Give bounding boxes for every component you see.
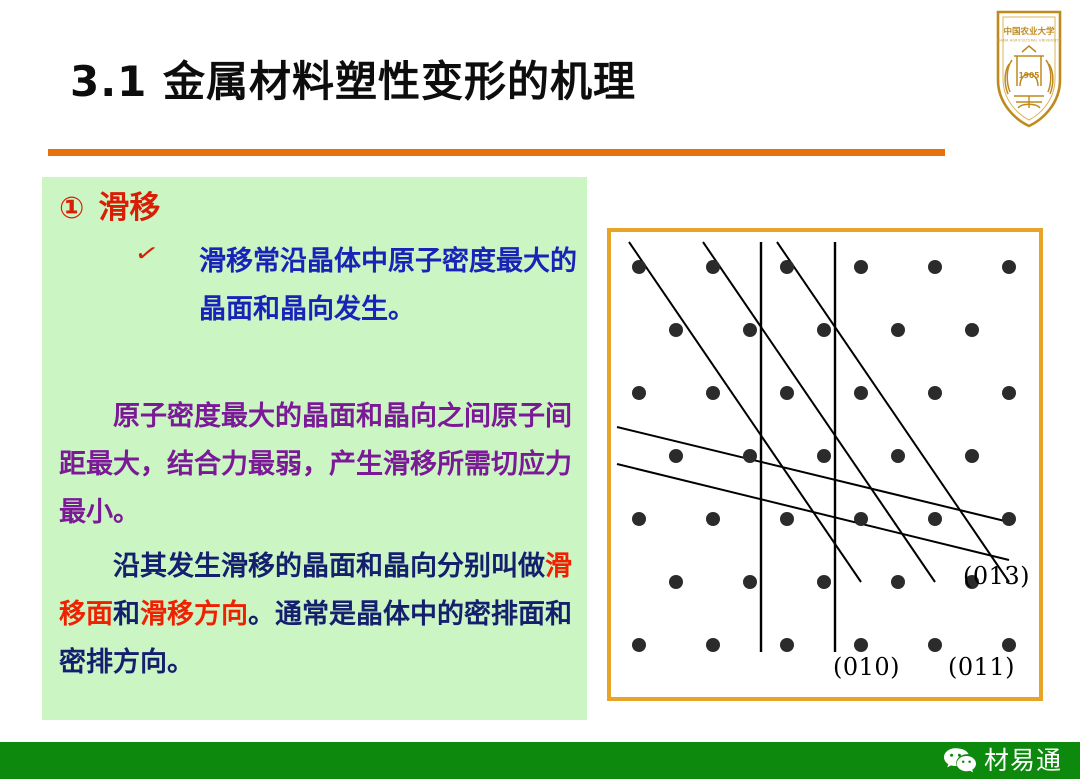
lattice-atom xyxy=(1002,512,1016,526)
lattice-atom xyxy=(632,512,646,526)
lattice-atom xyxy=(780,512,794,526)
lattice-atom xyxy=(706,512,720,526)
lattice-atom xyxy=(706,260,720,274)
wechat-icon xyxy=(943,747,977,775)
lattice-atom xyxy=(854,512,868,526)
content-panel: ①滑移 ✓ 滑移常沿晶体中原子密度最大的晶面和晶向发生。 原子密度最大的晶面和晶… xyxy=(42,177,587,720)
plane-line-011 xyxy=(629,242,861,582)
lattice-atom xyxy=(780,260,794,274)
lattice-atom xyxy=(1002,386,1016,400)
lattice-atom xyxy=(632,260,646,274)
lattice-atom xyxy=(891,323,905,337)
logo-year: 1905 xyxy=(1019,71,1040,80)
lattice-atom xyxy=(743,449,757,463)
lattice-atom xyxy=(965,323,979,337)
check-item-text: 滑移常沿晶体中原子密度最大的晶面和晶向发生。 xyxy=(199,237,589,333)
plane-label-010: (010) xyxy=(833,653,900,681)
check-icon: ✓ xyxy=(132,240,160,268)
lattice-atom xyxy=(743,575,757,589)
plane-label-011: (011) xyxy=(948,653,1015,681)
lattice-atom xyxy=(1002,260,1016,274)
paragraph-blue-middle: 和 xyxy=(113,599,140,629)
logo-name-en: CHINA AGRICULTURAL UNIVERSITY xyxy=(997,39,1062,43)
paragraph-blue: 沿其发生滑移的晶面和晶向分别叫做滑移面和滑移方向。通常是晶体中的密排面和密排方向… xyxy=(59,542,579,686)
lattice-atom xyxy=(780,638,794,652)
section-heading: ①滑移 xyxy=(59,189,160,228)
lattice-svg: (013)(010)(011) xyxy=(611,232,1039,697)
lattice-atom xyxy=(817,575,831,589)
lattice-atom xyxy=(854,260,868,274)
section-marker: ① xyxy=(59,191,84,226)
lattice-atom xyxy=(965,449,979,463)
lattice-figure: (013)(010)(011) xyxy=(607,228,1043,701)
title-divider xyxy=(48,149,945,156)
plane-line-013 xyxy=(617,427,1009,522)
plane-label-013: (013) xyxy=(963,562,1030,590)
lattice-atom xyxy=(1002,638,1016,652)
lattice-atom xyxy=(928,386,942,400)
university-logo: 中国农业大学 CHINA AGRICULTURAL UNIVERSITY 190… xyxy=(992,8,1066,130)
lattice-atom xyxy=(928,260,942,274)
lattice-atom xyxy=(706,638,720,652)
section-heading-text: 滑移 xyxy=(98,190,160,225)
lattice-atom xyxy=(817,449,831,463)
lattice-atom xyxy=(669,323,683,337)
lattice-atom xyxy=(743,323,757,337)
plane-line-011 xyxy=(703,242,935,582)
page-title: 3.1 金属材料塑性变形的机理 xyxy=(70,56,636,108)
lattice-atom xyxy=(891,575,905,589)
footer-bar xyxy=(0,742,1080,779)
lattice-atom xyxy=(928,512,942,526)
paragraph-blue-highlight-2: 滑移方向 xyxy=(140,599,248,629)
logo-name-cn: 中国农业大学 xyxy=(1003,26,1055,37)
paragraph-purple: 原子密度最大的晶面和晶向之间原子间距最大，结合力最弱，产生滑移所需切应力最小。 xyxy=(59,392,579,536)
lattice-atom xyxy=(632,386,646,400)
lattice-atom xyxy=(891,449,905,463)
paragraph-blue-prefix: 沿其发生滑移的晶面和晶向分别叫做 xyxy=(113,551,545,581)
footer-brand: 材易通 xyxy=(943,745,1062,777)
lattice-atom xyxy=(854,386,868,400)
lattice-atom xyxy=(928,638,942,652)
lattice-atom xyxy=(706,386,720,400)
lattice-atom xyxy=(632,638,646,652)
footer-brand-text: 材易通 xyxy=(984,746,1062,776)
lattice-atom xyxy=(780,386,794,400)
lattice-atom xyxy=(817,323,831,337)
lattice-atom xyxy=(854,638,868,652)
lattice-atom xyxy=(669,575,683,589)
lattice-atom xyxy=(669,449,683,463)
